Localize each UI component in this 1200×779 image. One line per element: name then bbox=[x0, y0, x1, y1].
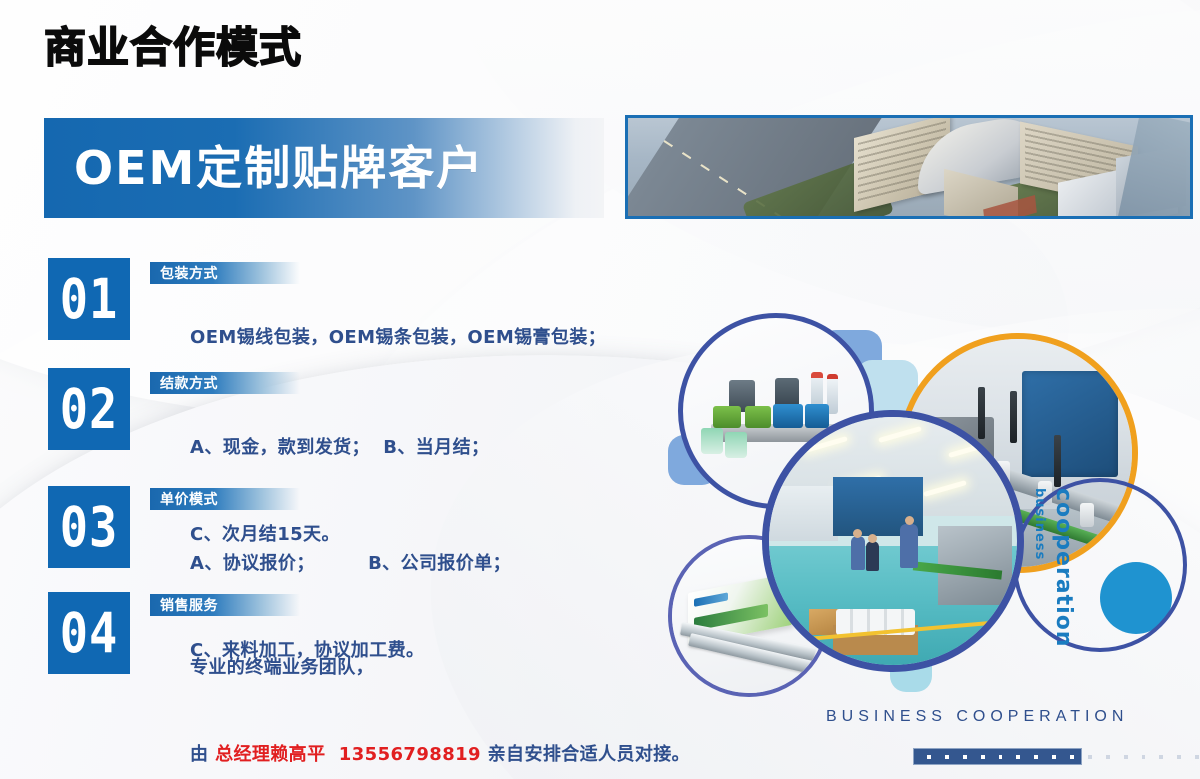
item-line-02-1: A、现金，款到发货； B、当月结； bbox=[150, 404, 489, 491]
product-pot-2 bbox=[725, 432, 747, 458]
item-badge-04: 销售服务 bbox=[150, 594, 300, 616]
machinery-cabinet-blue bbox=[1022, 371, 1118, 477]
item-text-prefix: 由 bbox=[190, 744, 215, 765]
item-number-02: 02 bbox=[60, 381, 119, 436]
item-text-suffix: 亲自安排合适人员对接。 bbox=[481, 744, 690, 765]
vertical-label-cooperation: cooperation bbox=[1051, 488, 1076, 647]
item-text: A、协议报价； B、公司报价单； bbox=[190, 553, 511, 574]
item-number-01: 01 bbox=[60, 271, 119, 326]
bottom-caption: BUSINESS COOPERATION bbox=[826, 708, 1128, 726]
item-badge-02: 结款方式 bbox=[150, 372, 300, 394]
dot-bar-dot bbox=[1106, 755, 1110, 759]
dot-bar-dot bbox=[1195, 755, 1199, 759]
item-line-01-1: OEM锡线包装，OEM锡条包装，OEM锡膏包装； bbox=[150, 294, 606, 381]
item-text: A、现金，款到发货； B、当月结； bbox=[190, 437, 489, 458]
dot-bar-dot bbox=[927, 755, 931, 759]
product-can-green-2 bbox=[745, 406, 771, 428]
product-box-logo bbox=[694, 592, 728, 607]
product-can-green-1 bbox=[713, 406, 741, 428]
item-badge-01: 包装方式 bbox=[150, 262, 300, 284]
dot-bar-dot bbox=[1016, 755, 1020, 759]
item-text: 专业的终端业务团队， bbox=[190, 657, 374, 678]
dot-bar-dot bbox=[963, 755, 967, 759]
dot-bar-dot bbox=[1142, 755, 1146, 759]
item-body-01: 包装方式 OEM锡线包装，OEM锡条包装，OEM锡膏包装； bbox=[150, 262, 606, 381]
dot-bar-dot bbox=[1052, 755, 1056, 759]
poster-root: 商业合作模式 OEM定制贴牌客户 01 包装方式 OEM锡线包装，OEM锡条包装… bbox=[0, 0, 1200, 779]
oem-banner: OEM定制贴牌客户 bbox=[44, 118, 604, 218]
vertical-label-group: business cooperation bbox=[1032, 488, 1076, 647]
dot-bar-dot bbox=[981, 755, 985, 759]
dot-bar-dot bbox=[1034, 755, 1038, 759]
bottom-dot-bar bbox=[913, 748, 1199, 765]
factory-worker-3 bbox=[900, 524, 918, 568]
page-title: 商业合作模式 bbox=[44, 27, 302, 69]
oem-banner-title: OEM定制贴牌客户 bbox=[74, 145, 484, 191]
factory-worker-2 bbox=[866, 541, 879, 571]
product-pot-1 bbox=[701, 428, 723, 454]
dot-bar-dot bbox=[945, 755, 949, 759]
header-aerial-photo bbox=[625, 115, 1193, 219]
item-number-box-03: 03 bbox=[48, 486, 130, 568]
factory-scene bbox=[769, 417, 1017, 665]
item-line-04-1: 专业的终端业务团队， bbox=[150, 624, 690, 711]
item-number-box-02: 02 bbox=[48, 368, 130, 450]
dot-bar-dot bbox=[999, 755, 1003, 759]
dot-bar-dot bbox=[1177, 755, 1181, 759]
dot-bar-dot bbox=[1159, 755, 1163, 759]
vertical-label-business: business bbox=[1032, 488, 1047, 560]
dot-bar-dot bbox=[1088, 755, 1092, 759]
item-text: OEM锡线包装，OEM锡条包装，OEM锡膏包装； bbox=[190, 327, 606, 348]
item-badge-03: 单价模式 bbox=[150, 488, 300, 510]
factory-worker-head-1 bbox=[853, 529, 862, 538]
item-body-04: 销售服务 专业的终端业务团队， 由 总经理赖高平 13556798819 亲自安… bbox=[150, 594, 690, 779]
item-text-contact: 总经理赖高平 13556798819 bbox=[215, 744, 481, 765]
factory-worker-1 bbox=[851, 536, 865, 570]
factory-worker-head-2 bbox=[868, 534, 877, 543]
factory-wall-left bbox=[769, 486, 838, 541]
item-number-04: 04 bbox=[60, 605, 119, 660]
dot-bar-dot bbox=[1124, 755, 1128, 759]
dot-bar-dots bbox=[913, 748, 1199, 765]
item-number-03: 03 bbox=[60, 499, 119, 554]
photo-circle-factory bbox=[762, 410, 1024, 672]
item-line-04-2: 由 总经理赖高平 13556798819 亲自安排合适人员对接。 bbox=[150, 711, 690, 779]
item-number-box-01: 01 bbox=[48, 258, 130, 340]
item-number-box-04: 04 bbox=[48, 592, 130, 674]
dot-bar-dot bbox=[1070, 755, 1074, 759]
machinery-arm-3 bbox=[1054, 435, 1061, 487]
